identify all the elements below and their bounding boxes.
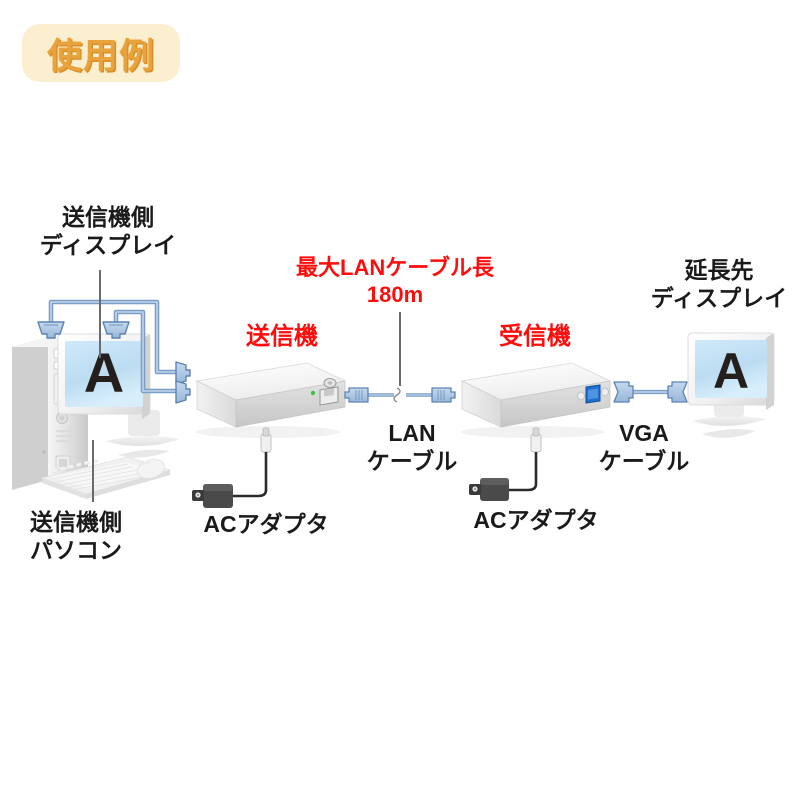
label-extended-display-line2: ディスプレイ xyxy=(640,284,798,312)
usage-example-badge: 使用例 xyxy=(22,24,180,82)
ac-adapter-receiver xyxy=(469,428,541,501)
mouse xyxy=(135,456,167,481)
label-max-lan-length: 最大LANケーブル長 180m xyxy=(280,255,510,309)
label-vga-cable: VGA ケーブル xyxy=(578,419,710,475)
label-transmitter-display: 送信機側 ディスプレイ xyxy=(28,203,188,259)
desktop-pc-tower xyxy=(12,337,88,490)
source-display-monitor: A xyxy=(58,333,180,458)
vga-cable-display-side xyxy=(614,382,687,402)
leader-line-tx-display xyxy=(99,270,101,358)
vga-connector-tx-lower xyxy=(176,381,190,403)
label-vga-cable-line2: ケーブル xyxy=(578,447,710,475)
label-max-lan-length-line1: 最大LANケーブル長 xyxy=(280,255,510,282)
badge-label: 使用例 xyxy=(47,28,155,79)
transmitter-device xyxy=(196,363,345,438)
label-max-lan-length-value: 180m xyxy=(280,282,510,309)
label-transmitter-pc-line2: パソコン xyxy=(6,536,146,564)
label-transmitter-display-line2: ディスプレイ xyxy=(28,231,188,259)
vga-connector-pc xyxy=(103,322,129,338)
diagram-artwork: A xyxy=(0,0,800,800)
cable-break-symbol xyxy=(394,388,400,402)
vga-plug-left xyxy=(614,382,633,402)
label-extended-display: 延長先 ディスプレイ xyxy=(640,256,798,312)
source-screen-glyph: A xyxy=(84,341,124,404)
vga-cable-source-side xyxy=(51,302,176,391)
label-extended-display-line1: 延長先 xyxy=(640,256,798,284)
transmitter-power-jack xyxy=(324,379,336,388)
extended-screen-glyph: A xyxy=(713,343,749,399)
label-receiver: 受信機 xyxy=(480,322,590,351)
label-transmitter: 送信機 xyxy=(227,322,337,351)
label-lan-cable-line2: ケーブル xyxy=(352,447,472,475)
leader-line-max-lan xyxy=(399,312,401,386)
lan-plug-right xyxy=(432,388,455,402)
transmitter-rj45-port xyxy=(320,387,338,405)
vga-connector-monitor xyxy=(38,322,64,338)
label-lan-cable: LAN ケーブル xyxy=(352,419,472,475)
receiver-vga-port xyxy=(586,385,600,403)
transmitter-led xyxy=(311,391,315,395)
lan-cable xyxy=(345,388,455,402)
label-vga-cable-line1: VGA xyxy=(578,419,710,447)
vga-cable-inner-highlight xyxy=(51,302,176,391)
ac-adapter-transmitter xyxy=(192,428,271,508)
keyboard xyxy=(42,457,170,499)
label-transmitter-display-line1: 送信機側 xyxy=(28,203,188,231)
diagram-canvas: 使用例 xyxy=(0,0,800,800)
label-transmitter-pc: 送信機側 パソコン xyxy=(6,508,146,564)
label-transmitter-pc-line1: 送信機側 xyxy=(6,508,146,536)
label-ac-adapter-left: ACアダプタ xyxy=(186,510,346,538)
leader-line-tx-pc xyxy=(92,440,94,502)
vga-plug-right xyxy=(668,382,687,402)
label-lan-cable-line1: LAN xyxy=(352,419,472,447)
vga-connector-tx-upper xyxy=(176,362,190,384)
label-ac-adapter-right: ACアダプタ xyxy=(456,506,616,534)
lan-plug-left xyxy=(345,388,368,402)
